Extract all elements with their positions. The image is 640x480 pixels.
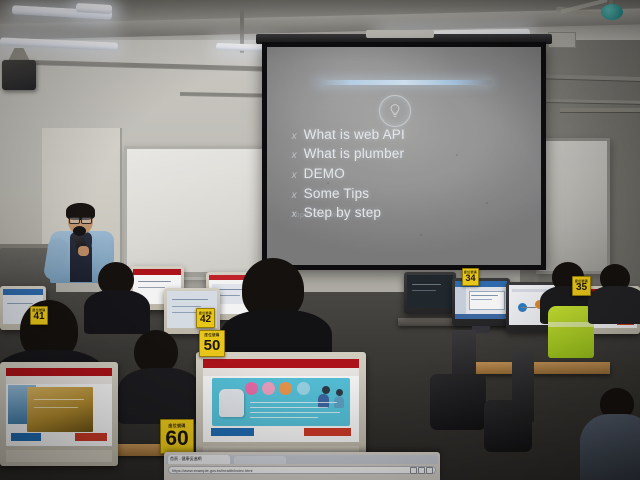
slide-footer-text: Topic Overview [292,212,346,219]
bullet-text: What is plumber [304,147,405,161]
page-button-red [75,433,107,441]
monitor-screen [407,275,453,308]
desk-tag-caption: 座位號碼 [464,271,477,274]
slide-bullet-item: x What is plumber [292,147,528,161]
student [124,330,194,420]
bullet-mark: x [292,132,297,142]
backpack [484,400,532,452]
gold-banner [27,387,93,432]
wall-speaker-icon [2,60,36,90]
microphone-head [73,226,86,236]
student [592,262,640,320]
desk-tag-number: 50 [204,338,221,353]
monitor-front-center [196,352,366,464]
desk-tag-caption: 座位號碼 [204,334,219,338]
desk-tag-number: 60 [165,428,188,449]
monitor-screen [455,281,507,319]
bullet-text: What is web API [304,128,405,142]
desk-tag-number: 35 [576,283,587,293]
bullet-text: Some Tips [304,187,370,201]
backpack [430,374,486,430]
desk-tag: 座位號碼 42 [196,308,215,328]
glasses-lens [69,217,80,224]
projection-screen-housing [366,30,434,38]
close-button[interactable] [426,467,433,474]
desk-tag-number: 34 [465,274,475,283]
desk-tag-caption: 座位號碼 [32,309,45,312]
window-controls [410,466,436,474]
browser-tab-active[interactable]: 首頁 - 健康促進網 [168,455,230,464]
monitor-back-left [404,272,456,314]
desk-tag: 座位號碼 60 [160,419,194,454]
page-button-blue [211,428,255,436]
desk-tag: 座位號碼 50 [199,330,225,357]
slide-bullet-item: x Some Tips [292,187,528,201]
desk-tag-caption: 座位號碼 [168,424,185,428]
monitor-mid-right [452,278,510,326]
bullet-mark: x [292,151,297,161]
page-button-blue [11,433,41,441]
vest-reflective-strap [548,322,594,327]
glasses-lens [81,217,92,224]
conduit-pipe [560,108,640,112]
desk-tag-caption: 座位號碼 [199,312,212,315]
desk-tag: 座位號碼 41 [30,306,48,325]
student [586,388,640,480]
whiteboard-right [536,138,610,274]
monitor-screen [203,359,359,442]
slide-accent-bar [316,80,491,85]
projected-slide: x What is web API x What is plumber x DE… [267,47,541,265]
maximize-button[interactable] [418,467,425,474]
browser-tab-new[interactable] [234,456,286,464]
student [226,258,322,362]
bullet-text: DEMO [304,167,345,181]
desk-tag-number: 41 [33,312,44,322]
projection-screen: x What is web API x What is plumber x DE… [262,42,546,270]
webpage-render [6,368,112,446]
desk-tag-caption: 座位號碼 [575,280,588,283]
browser-window[interactable]: 首頁 - 健康促進網 https://www.example.gov.tw/he… [164,452,440,480]
desk-tag: 座位號碼 34 [462,268,479,286]
presenter-hand [78,246,89,256]
desk-tag-number: 42 [200,315,211,325]
desk [470,362,610,374]
desk-tag: 座位號碼 35 [572,276,591,296]
fluorescent-light [76,3,112,14]
minimize-button[interactable] [410,467,417,474]
ceiling-fan-icon [601,4,623,20]
bullet-mark: x [292,191,297,201]
bullet-mark: x [292,171,297,181]
monitor-bezel-bottom [6,450,112,462]
address-bar[interactable]: https://www.example.gov.tw/health/index.… [168,466,436,474]
monitor-screen [6,368,112,446]
slide-bullet-item: x DEMO [292,167,528,181]
webpage-render [203,359,359,442]
page-button-red [304,428,351,436]
wall-junction-box [548,32,576,48]
slide-bullet-item: x What is web API [292,128,528,142]
classroom-photo-scene: x What is web API x What is plumber x DE… [0,0,640,480]
monitor-front-left [0,362,118,466]
